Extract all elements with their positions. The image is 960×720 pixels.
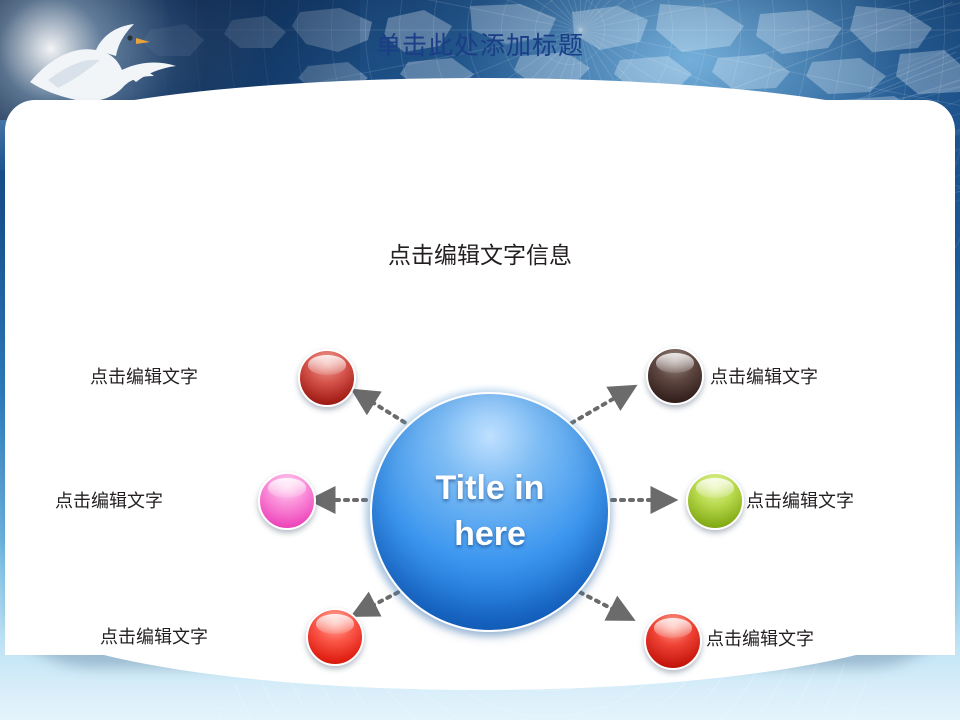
presentation-slide: 单击此处添加标题 点击编辑文字信息 Title in	[0, 0, 960, 720]
center-label-line2: here	[454, 515, 526, 553]
radial-diagram: Title in here 点击编辑文字 点击编辑文字 点击编辑文字 点击编辑文…	[0, 0, 960, 720]
slide-subtitle[interactable]: 点击编辑文字信息	[0, 236, 960, 270]
node-bubble-bottom-right[interactable]	[644, 612, 702, 670]
node-bubble-middle-left[interactable]	[258, 472, 316, 530]
node-bubble-bottom-left[interactable]	[306, 608, 364, 666]
node-label-bottom-right[interactable]: 点击编辑文字	[706, 625, 814, 651]
node-bubble-top-left[interactable]	[298, 349, 356, 407]
center-label-line1: Title in	[436, 469, 545, 507]
node-label-middle-right[interactable]: 点击编辑文字	[746, 487, 854, 513]
node-label-top-left[interactable]: 点击编辑文字	[90, 363, 198, 389]
slide-title[interactable]: 单击此处添加标题	[0, 26, 960, 62]
node-bubble-middle-right[interactable]	[686, 472, 744, 530]
node-label-middle-left[interactable]: 点击编辑文字	[55, 487, 163, 513]
center-circle-label: Title in here	[418, 466, 563, 558]
center-circle[interactable]: Title in here	[370, 392, 610, 632]
node-label-bottom-left[interactable]: 点击编辑文字	[100, 623, 208, 649]
node-bubble-top-right[interactable]	[646, 347, 704, 405]
node-label-top-right[interactable]: 点击编辑文字	[710, 363, 818, 389]
